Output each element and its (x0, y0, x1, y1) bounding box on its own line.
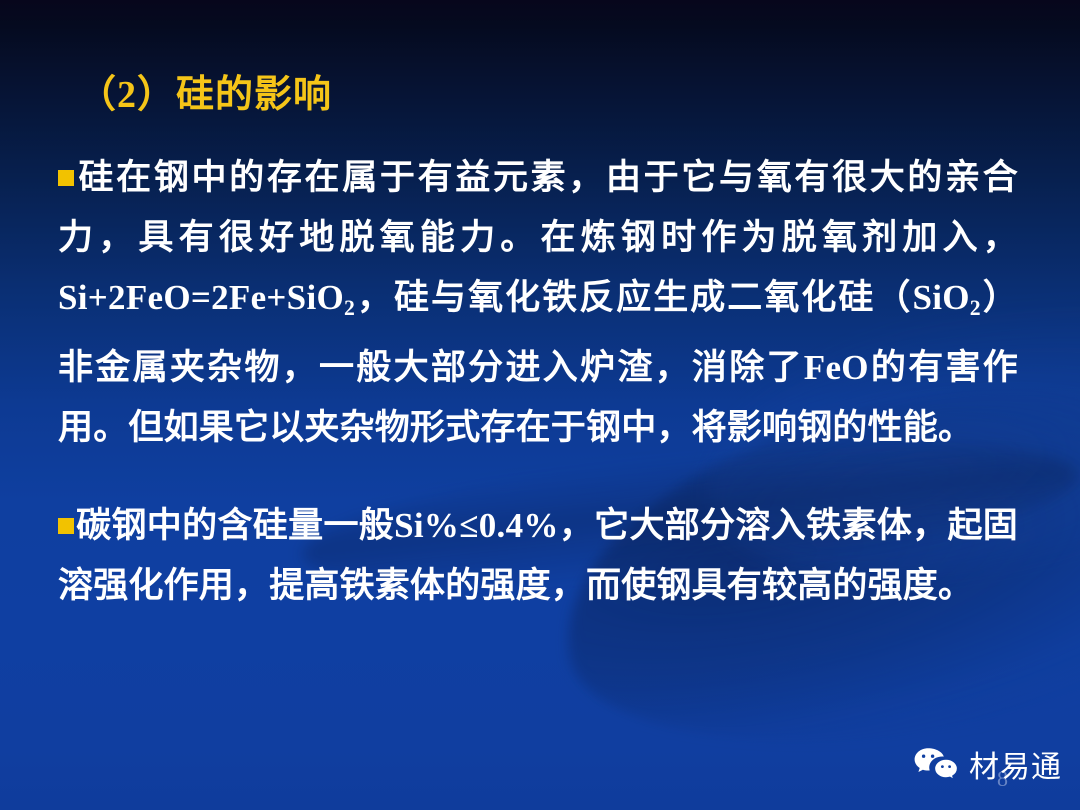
para1-formula-feo: FeO (804, 348, 869, 387)
slide-title: （2）硅的影响 (78, 74, 332, 118)
watermark-label: 材易通 (969, 742, 1062, 786)
bullet-paragraph-2: 碳钢中的含硅量一般Si%≤0.4%，它大部分溶入铁素体，起固溶强化作用，提高铁素… (58, 496, 1018, 616)
wechat-watermark: 材易通 (913, 742, 1062, 786)
subscript-2: 2 (970, 296, 981, 320)
para1-seg3: ，硅与氧化铁反应生成二氧化硅（ (355, 278, 912, 317)
square-bullet-icon (58, 518, 74, 534)
subscript-2: 2 (344, 296, 355, 320)
presentation-slide: （2）硅的影响 硅在钢中的存在属于有益元素，由于它与氧有很大的亲合力，具有很好地… (0, 0, 1080, 810)
para1-seg1: 硅在钢中的存在属于有益元素，由于它与氧有很大的亲合力，具有很好地脱氧能力。在炼钢… (58, 158, 1018, 257)
paragraph-2-text: 碳钢中的含硅量一般Si%≤0.4%，它大部分溶入铁素体，起固溶强化作用，提高铁素… (58, 506, 1018, 605)
para1-formula-sio2-reaction: Si+2FeO=2Fe+SiO2 (58, 278, 355, 317)
square-bullet-icon (58, 170, 74, 186)
para2-seg1: 碳钢中的含硅量一般 (76, 506, 394, 545)
wechat-icon (913, 746, 959, 782)
para2-formula-si-percent: Si%≤0.4% (394, 506, 559, 545)
para1-formula-sio2: SiO2 (912, 278, 980, 317)
paragraph-1-text: 硅在钢中的存在属于有益元素，由于它与氧有很大的亲合力，具有很好地脱氧能力。在炼钢… (58, 158, 1018, 447)
slide-body: 硅在钢中的存在属于有益元素，由于它与氧有很大的亲合力，具有很好地脱氧能力。在炼钢… (58, 148, 1018, 616)
bullet-paragraph-1: 硅在钢中的存在属于有益元素，由于它与氧有很大的亲合力，具有很好地脱氧能力。在炼钢… (58, 148, 1018, 458)
